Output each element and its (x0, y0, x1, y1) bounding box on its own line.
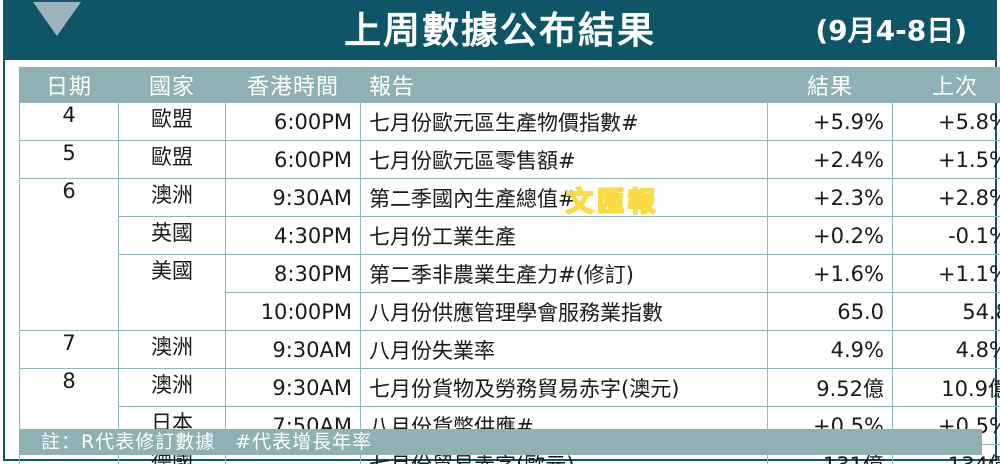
cell-country: 歐盟 (119, 103, 226, 141)
cell-result: +2.3% (768, 179, 893, 217)
cell-result: 65.0 (768, 293, 893, 331)
cell-time: 9:30AM (226, 179, 361, 217)
cell-prev: 4.8% (893, 331, 1000, 369)
table-header-row: 日期 國家 香港時間 報告 結果 上次 (20, 68, 1000, 103)
cell-result: 9.52億 (768, 369, 893, 407)
cell-prev: +1.5% (893, 141, 1000, 179)
cell-date: 5 (20, 141, 119, 179)
cell-time: 8:30PM (226, 255, 361, 293)
column-header-date: 日期 (20, 68, 119, 103)
table-row: 5歐盟6:00PM七月份歐元區零售額#+2.4%+1.5% (20, 141, 1000, 179)
cell-prev: -0.1% (893, 217, 1000, 255)
cell-country: 美國 (119, 255, 226, 331)
cell-country: 英國 (119, 217, 226, 255)
cell-time: 9:30AM (226, 369, 361, 407)
cell-result: 4.9% (768, 331, 893, 369)
cell-prev: 54.8 (893, 293, 1000, 331)
cell-time: 9:30AM (226, 331, 361, 369)
cell-country: 澳洲 (119, 369, 226, 407)
table-row: 7澳洲9:30AM八月份失業率4.9%4.8%R (20, 331, 1000, 369)
table-row: 美國8:30PM第二季非農業生產力#(修訂)+1.6%+1.1% (20, 255, 1000, 293)
column-header-prev: 上次 (893, 68, 1000, 103)
table-row: 8澳洲9:30AM七月份貨物及勞務貿易赤字(澳元)9.52億10.9億R (20, 369, 1000, 407)
cell-result: +5.9% (768, 103, 893, 141)
cell-time: 6:00PM (226, 141, 361, 179)
cell-date: 4 (20, 103, 119, 141)
column-header-report: 報告 (361, 68, 768, 103)
cell-prev: +2.8% (893, 179, 1000, 217)
cell-report: 七月份工業生產 (361, 217, 768, 255)
cell-report: 七月份貨物及勞務貿易赤字(澳元) (361, 369, 768, 407)
cell-time: 6:00PM (226, 103, 361, 141)
data-table-container: 日期 國家 香港時間 報告 結果 上次 4歐盟6:00PM七月份歐元區生產物價指… (19, 67, 982, 464)
table-head: 日期 國家 香港時間 報告 結果 上次 (20, 68, 1000, 103)
cell-prev: 10.9億 (893, 369, 1000, 407)
data-table: 日期 國家 香港時間 報告 結果 上次 4歐盟6:00PM七月份歐元區生產物價指… (19, 67, 1000, 464)
table-row: 6澳洲9:30AM第二季國內生產總值#+2.3%+2.8% (20, 179, 1000, 217)
cell-prev: +1.1% (893, 255, 1000, 293)
cell-result: +1.6% (768, 255, 893, 293)
column-header-time: 香港時間 (226, 68, 361, 103)
cell-report: 八月份失業率 (361, 331, 768, 369)
cell-country: 歐盟 (119, 141, 226, 179)
column-header-result: 結果 (768, 68, 893, 103)
title-bar: 上周數據公布結果 (9月4-8日) (5, 2, 995, 60)
cell-result: +2.4% (768, 141, 893, 179)
cell-time: 10:00PM (226, 293, 361, 331)
cell-report: 八月份供應管理學會服務業指數 (361, 293, 768, 331)
cell-report: 第二季非農業生產力#(修訂) (361, 255, 768, 293)
cell-date: 7 (20, 331, 119, 369)
table-row: 4歐盟6:00PM七月份歐元區生產物價指數#+5.9%+5.8% (20, 103, 1000, 141)
cell-country: 澳洲 (119, 331, 226, 369)
page-root: 上周數據公布結果 (9月4-8日) 日期 國家 香港時間 報告 結果 上次 4歐… (0, 0, 1000, 464)
cell-country: 澳洲 (119, 179, 226, 217)
cell-report: 第二季國內生產總值# (361, 179, 768, 217)
cell-report: 七月份歐元區生產物價指數# (361, 103, 768, 141)
column-header-country: 國家 (119, 68, 226, 103)
title-date-range: (9月4-8日) (815, 2, 967, 60)
table-body: 4歐盟6:00PM七月份歐元區生產物價指數#+5.9%+5.8%5歐盟6:00P… (20, 103, 1000, 464)
cell-report: 七月份歐元區零售額# (361, 141, 768, 179)
cell-time: 4:30PM (226, 217, 361, 255)
table-row: 英國4:30PM七月份工業生產+0.2%-0.1% (20, 217, 1000, 255)
cell-date: 6 (20, 179, 119, 331)
cell-prev: +5.8% (893, 103, 1000, 141)
cell-result: +0.2% (768, 217, 893, 255)
footer-note: 註：R代表修訂數據 #代表增長年率 (19, 429, 982, 455)
